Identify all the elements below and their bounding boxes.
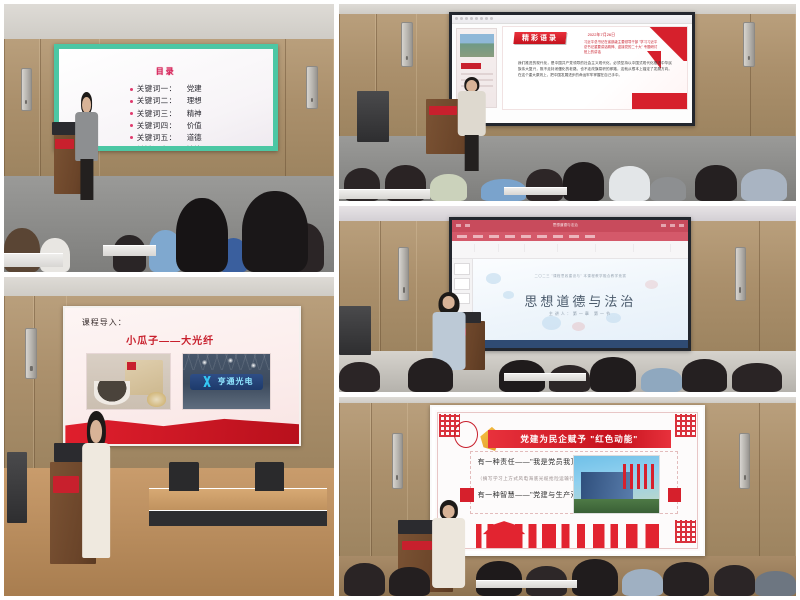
wall-speaker-right: [743, 22, 755, 67]
collage-column-right: 精彩语录 2022年7月26日 习近平总书记在省部级主要领导干部 "学习习近平总…: [339, 4, 796, 596]
toc-list: 关键词一： 党建 关键词二： 理想 关键词三： 精神: [130, 83, 202, 151]
slide-photo-building: [573, 455, 660, 514]
photo-top-left: 目录 关键词一： 党建 关键词二： 理想: [4, 4, 334, 272]
wall-speaker-left: [401, 22, 413, 67]
instructor: [77, 411, 117, 558]
bullet-icon: [130, 124, 133, 127]
brand-name: 亨通光电: [218, 376, 254, 387]
slide-thumbnail[interactable]: [454, 263, 470, 274]
wall-speaker-left: [25, 328, 37, 379]
undo-icon[interactable]: [465, 224, 470, 227]
toc-item: 关键词二： 理想: [130, 95, 202, 107]
wall-speaker-right: [739, 433, 750, 489]
photo-top-right: 精彩语录 2022年7月26日 习近平总书记在省部级主要领导干部 "学习习近平总…: [339, 4, 796, 201]
gold-seal-icon: [147, 392, 167, 406]
slide-thumbnail[interactable]: [454, 278, 470, 289]
ppt-toolbar[interactable]: [452, 241, 688, 259]
tab-insert[interactable]: [489, 235, 499, 238]
chair: [169, 462, 199, 491]
maximize-icon[interactable]: [670, 224, 675, 227]
photo-middle-right: 思想道德与法治: [339, 206, 796, 392]
decor-corner-bottom-right: [632, 93, 687, 109]
slide-ribbon-title: 精彩语录: [514, 32, 567, 44]
slide-top-line: 二〇二三 "课程思政建设与" 本课程教学融合教学竞赛: [473, 273, 688, 278]
wall-speaker-left: [398, 247, 409, 301]
save-icon[interactable]: [456, 224, 461, 227]
ppt-ribbon-tabs[interactable]: [452, 232, 688, 241]
table-shelf: [149, 510, 327, 526]
table: [149, 488, 327, 510]
chinese-pattern-corner-icon: [675, 414, 696, 437]
podium-nameplate: [53, 476, 79, 492]
ceiling-truss: [183, 354, 270, 371]
wall-speaker-right: [306, 66, 317, 109]
tab-review[interactable]: [569, 235, 579, 238]
bullet-icon: [130, 136, 133, 139]
collage-column-left: 目录 关键词一： 党建 关键词二： 理想: [4, 4, 334, 596]
ppt-slide-canvas[interactable]: 二〇二三 "课程思政建设与" 本课程教学融合教学竞赛 思想道德与法治 主讲人：第…: [473, 259, 688, 341]
bullet-icon: [130, 100, 133, 103]
hengtong-logo-icon: [200, 376, 214, 387]
slide-quote-text: 我们推进的现代化，是中国共产党领导的社会主义现代化，必须坚持以中国式现代化推进中…: [518, 61, 672, 79]
photo-collage: 目录 关键词一： 党建 关键词二： 理想: [0, 0, 800, 600]
minimize-icon[interactable]: [661, 224, 666, 227]
party-emblem-icon: [454, 421, 478, 448]
powerpoint-window: 思想道德与法治: [452, 220, 688, 348]
audience-row: [339, 344, 796, 392]
brand-logo-icon: [127, 362, 136, 370]
slide-image-seeds: [86, 353, 170, 410]
photo-bottom-left: 课程导入： 小瓜子——大光纤: [4, 277, 334, 596]
toc-item: 关键词一： 党建: [130, 83, 202, 95]
slide-source: 习近平总书记在省部级主要领导干部 "学习习近平总书记重要讲话精神、迎接党的二十大…: [584, 40, 657, 55]
decor-square-right: [668, 488, 681, 502]
ppt-document-title: 思想道德与法治: [553, 223, 578, 228]
ceiling: [4, 277, 334, 296]
close-icon[interactable]: [679, 224, 684, 227]
av-equipment: [7, 452, 27, 522]
slide-banner-title: 党建为民企赋予 "红色动能": [488, 430, 670, 448]
bullet-icon: [130, 112, 133, 115]
slide-heading: 思想道德与法治: [473, 291, 688, 310]
ppt-titlebar: 思想道德与法治: [452, 220, 688, 232]
ceiling: [4, 4, 334, 39]
seed-bag: [125, 360, 163, 394]
slide-line-2: （摘写学习上方式风电海底光缆抢险运输行动）: [478, 476, 585, 482]
projection-screen: 党建为民企赋予 "红色动能" 有一种责任——"我是党员我顶上" （摘写学习上方式…: [430, 405, 704, 556]
slide-image-factory: 亨通光电: [182, 353, 271, 410]
wall-speaker-left: [392, 433, 403, 489]
slide-title: 小瓜子——大光纤: [126, 332, 214, 347]
wall-speaker-left: [21, 68, 32, 111]
wall-speaker-right: [735, 247, 746, 301]
toc-item: 关键词三： 精神: [130, 108, 202, 120]
slide-title: 目录: [156, 66, 176, 77]
chair: [255, 462, 285, 491]
photo-bottom-right: 党建为民企赋予 "红色动能" 有一种责任——"我是党员我顶上" （摘写学习上方式…: [339, 397, 796, 596]
slide-party: 党建为民企赋予 "红色动能" 有一种责任——"我是党员我顶上" （摘写学习上方式…: [432, 407, 702, 554]
brand-sign: 亨通光电: [190, 374, 263, 391]
chinese-pattern-corner-icon: [675, 520, 696, 543]
slide-lead-in: 课程导入：: [82, 317, 127, 328]
tab-animations[interactable]: [537, 235, 547, 238]
tab-slideshow[interactable]: [553, 235, 563, 238]
slide-subheading: 主讲人：第一章 第一节: [473, 311, 688, 317]
ppt-chrome: [452, 15, 693, 24]
tab-home[interactable]: [473, 235, 483, 238]
seed-bowl: [94, 381, 130, 404]
tab-view[interactable]: [585, 235, 595, 238]
tab-file[interactable]: [457, 235, 467, 238]
slide-date: 2022年7月26日: [588, 32, 616, 38]
slide-body: 精彩语录 2022年7月26日 习近平总书记在省部级主要领导干部 "学习习近平总…: [502, 26, 687, 110]
toc-item: 关键词五： 道德: [130, 132, 202, 144]
bullet-icon: [130, 88, 133, 91]
tab-design[interactable]: [505, 235, 515, 238]
tab-transitions[interactable]: [521, 235, 531, 238]
audience-row: [339, 548, 796, 596]
toc-item: 关键词四： 价值: [130, 120, 202, 132]
